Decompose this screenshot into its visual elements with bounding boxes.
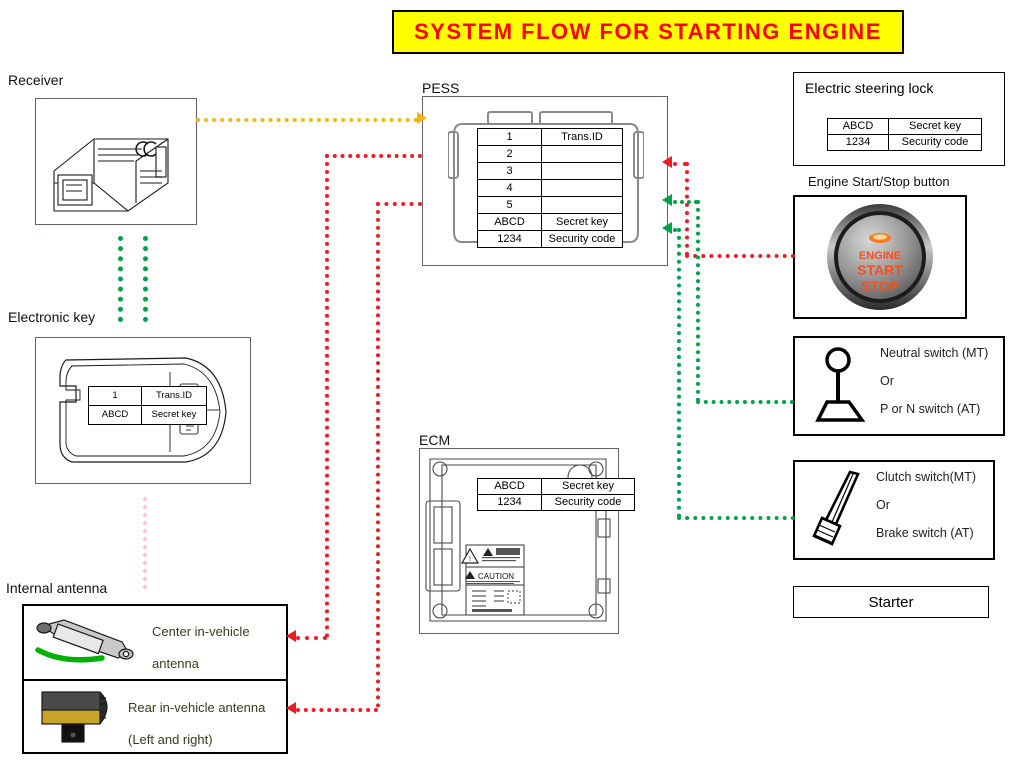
link-neutral-to-pess-h1 <box>696 400 794 404</box>
arrow-clutch-to-pess <box>662 222 672 234</box>
pess-code-cell: 1234 <box>478 231 542 248</box>
pedal-icon <box>806 468 876 552</box>
pess-label: PESS <box>422 80 459 96</box>
pess-code-cell: 2 <box>478 146 542 163</box>
antenna-row-1-line1: Center in-vehicle <box>152 624 250 639</box>
key-name-cell: Secret key <box>142 406 207 425</box>
gear-lever-icon <box>805 344 877 430</box>
svg-text:!: ! <box>469 556 471 563</box>
neutral-switch-line2: Or <box>880 374 894 388</box>
table-row: 1234Security code <box>478 495 635 511</box>
ecm-box: ! CAUTION <box>419 448 619 634</box>
link-pess-to-center-antenna-h2 <box>296 636 327 640</box>
table-row: 2 <box>478 146 623 163</box>
pess-code-cell: ABCD <box>478 214 542 231</box>
clutch-switch-line1: Clutch switch(MT) <box>876 470 976 484</box>
arrow-receiver-to-pess <box>417 112 427 124</box>
link-clutch-to-pess-h1 <box>677 516 795 520</box>
antenna-box-divider <box>22 679 288 681</box>
electric-steering-lock-title: Electric steering lock <box>805 80 933 96</box>
internal-antenna-label: Internal antenna <box>6 580 107 596</box>
link-startbutton-to-pess-h1 <box>685 254 795 258</box>
arrow-startbutton-to-pess <box>662 156 672 168</box>
start-button-line1: ENGINE <box>859 250 901 262</box>
ecm-label: ECM <box>419 432 450 448</box>
pess-code-cell: 5 <box>478 197 542 214</box>
pess-code-cell: 3 <box>478 163 542 180</box>
arrow-to-rear-antenna <box>286 702 296 714</box>
electronic-key-label: Electronic key <box>8 309 95 325</box>
arrow-neutral-to-pess <box>662 194 672 206</box>
ecm-name-cell: Secret key <box>542 479 635 495</box>
esl-name-cell: Security code <box>889 135 982 151</box>
ecm-code-cell: 1234 <box>478 495 542 511</box>
receiver-box <box>35 98 197 225</box>
link-receiver-key-green-b <box>143 236 148 322</box>
pess-name-cell <box>542 197 623 214</box>
arrow-to-center-antenna <box>286 630 296 642</box>
esl-name-cell: Secret key <box>889 119 982 135</box>
diagram-title-text: SYSTEM FLOW FOR STARTING ENGINE <box>414 19 882 45</box>
clutch-switch-line3: Brake switch (AT) <box>876 526 974 540</box>
ecm-name-cell: Security code <box>542 495 635 511</box>
link-neutral-to-pess-v <box>696 200 700 402</box>
link-pess-to-rear-antenna-v <box>376 202 380 708</box>
link-key-antenna-faint <box>143 497 147 589</box>
pess-name-cell <box>542 146 623 163</box>
table-row: 1234Security code <box>478 231 623 248</box>
link-clutch-to-pess-v <box>677 228 681 518</box>
key-name-cell: Trans.ID <box>142 387 207 406</box>
antenna-row-2-line2: (Left and right) <box>128 732 213 747</box>
receiver-label: Receiver <box>8 72 63 88</box>
neutral-switch-line1: Neutral switch (MT) <box>880 346 988 360</box>
pess-name-cell <box>542 180 623 197</box>
pess-code-cell: 1 <box>478 129 542 146</box>
pess-name-cell <box>542 163 623 180</box>
link-clutch-to-pess-h2 <box>673 228 679 232</box>
rear-antenna-illustration <box>36 686 136 748</box>
table-row: 3 <box>478 163 623 180</box>
esl-code-cell: 1234 <box>828 135 889 151</box>
link-receiver-to-pess <box>196 118 418 122</box>
esl-code-cell: ABCD <box>828 119 889 135</box>
table-row: ABCDSecret key <box>828 119 982 135</box>
start-button-line3: STOP <box>861 278 899 294</box>
table-row: 1 Trans.ID <box>89 387 207 406</box>
key-code-cell: 1 <box>89 387 142 406</box>
start-stop-button-illustration[interactable]: ENGINE START STOP <box>795 197 965 317</box>
table-row: ABCDSecret key <box>478 479 635 495</box>
neutral-switch-line3: P or N switch (AT) <box>880 402 980 416</box>
ecm-illustration: ! CAUTION <box>420 449 617 632</box>
engine-start-stop-box[interactable]: ENGINE START STOP <box>793 195 967 319</box>
pess-id-table: 1Trans.ID 2 3 4 5 ABCDSecret key 1234Sec… <box>477 128 623 248</box>
link-pess-to-center-antenna-h1 <box>325 154 422 158</box>
table-row: 5 <box>478 197 623 214</box>
link-pess-to-center-antenna-v <box>325 154 329 638</box>
center-antenna-illustration <box>30 612 140 672</box>
key-code-cell: ABCD <box>89 406 142 425</box>
link-pess-to-rear-antenna-h2 <box>296 708 378 712</box>
link-startbutton-to-pess-h2 <box>673 162 687 166</box>
diagram-title-banner: SYSTEM FLOW FOR STARTING ENGINE <box>392 10 904 54</box>
link-neutral-to-pess-h2 <box>673 200 698 204</box>
clutch-switch-line2: Or <box>876 498 890 512</box>
ecm-code-cell: ABCD <box>478 479 542 495</box>
antenna-row-1-line2: antenna <box>152 656 199 671</box>
link-pess-to-rear-antenna-h1 <box>376 202 422 206</box>
table-row: ABCD Secret key <box>89 406 207 425</box>
start-button-line2: START <box>857 262 903 278</box>
antenna-row-2-line1: Rear in-vehicle antenna <box>128 700 265 715</box>
receiver-illustration <box>36 99 196 224</box>
pess-name-cell: Secret key <box>542 214 623 231</box>
steering-lock-table: ABCDSecret key 1234Security code <box>827 118 982 151</box>
table-row: 1Trans.ID <box>478 129 623 146</box>
link-receiver-key-green-a <box>118 236 123 322</box>
starter-label: Starter <box>868 594 913 611</box>
ecm-caution-text: CAUTION <box>478 572 514 581</box>
key-id-table: 1 Trans.ID ABCD Secret key <box>88 386 207 425</box>
starter-box: Starter <box>793 586 989 618</box>
pess-name-cell: Security code <box>542 231 623 248</box>
table-row: 4 <box>478 180 623 197</box>
pess-code-cell: 4 <box>478 180 542 197</box>
pess-name-cell: Trans.ID <box>542 129 623 146</box>
link-startbutton-to-pess-v <box>685 162 689 256</box>
table-row: 1234Security code <box>828 135 982 151</box>
table-row: ABCDSecret key <box>478 214 623 231</box>
engine-start-stop-label: Engine Start/Stop button <box>808 174 950 189</box>
ecm-id-table: ABCDSecret key 1234Security code <box>477 478 635 511</box>
